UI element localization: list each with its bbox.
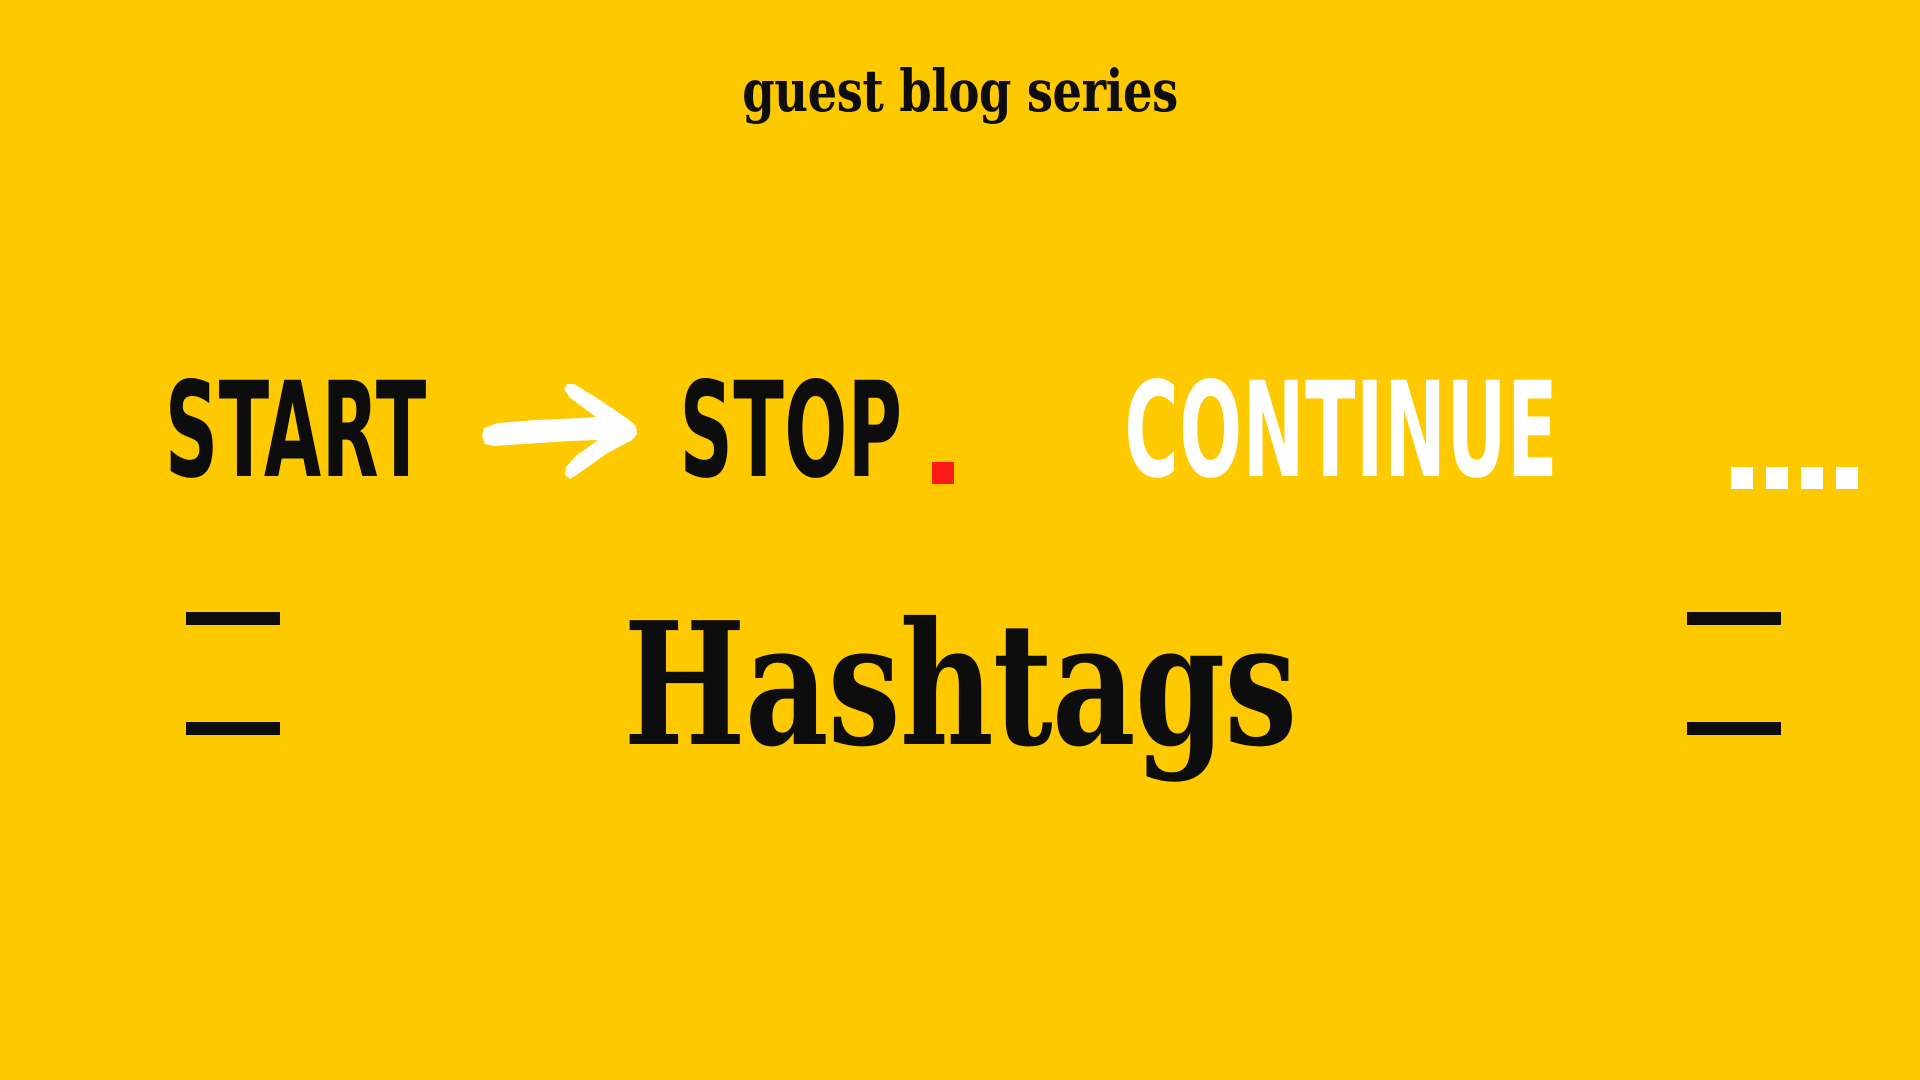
slide-canvas: guest blog series START STOP CONTINUE — [0, 0, 1920, 1080]
ellipsis-square-3 — [1801, 467, 1823, 489]
ellipsis-square-1 — [1731, 467, 1753, 489]
stop-period-mark — [932, 462, 954, 489]
stop-group: STOP — [650, 365, 954, 497]
action-row: START STOP CONTINUE — [0, 356, 1920, 506]
arrow-right-icon — [478, 376, 644, 486]
continue-ellipsis-mark — [1731, 467, 1858, 489]
word-start: START — [165, 365, 427, 497]
period-square — [932, 462, 954, 484]
word-stop: STOP — [679, 365, 902, 497]
page-title: Hashtags — [230, 600, 1689, 770]
ellipsis-square-4 — [1836, 467, 1858, 489]
ellipsis-square-2 — [1766, 467, 1788, 489]
continue-group: CONTINUE — [1016, 365, 1859, 497]
decorative-rule-right-top — [1687, 612, 1781, 625]
word-continue: CONTINUE — [1124, 365, 1558, 497]
decorative-rule-right-bottom — [1687, 722, 1781, 735]
kicker-text: guest blog series — [192, 62, 1728, 120]
